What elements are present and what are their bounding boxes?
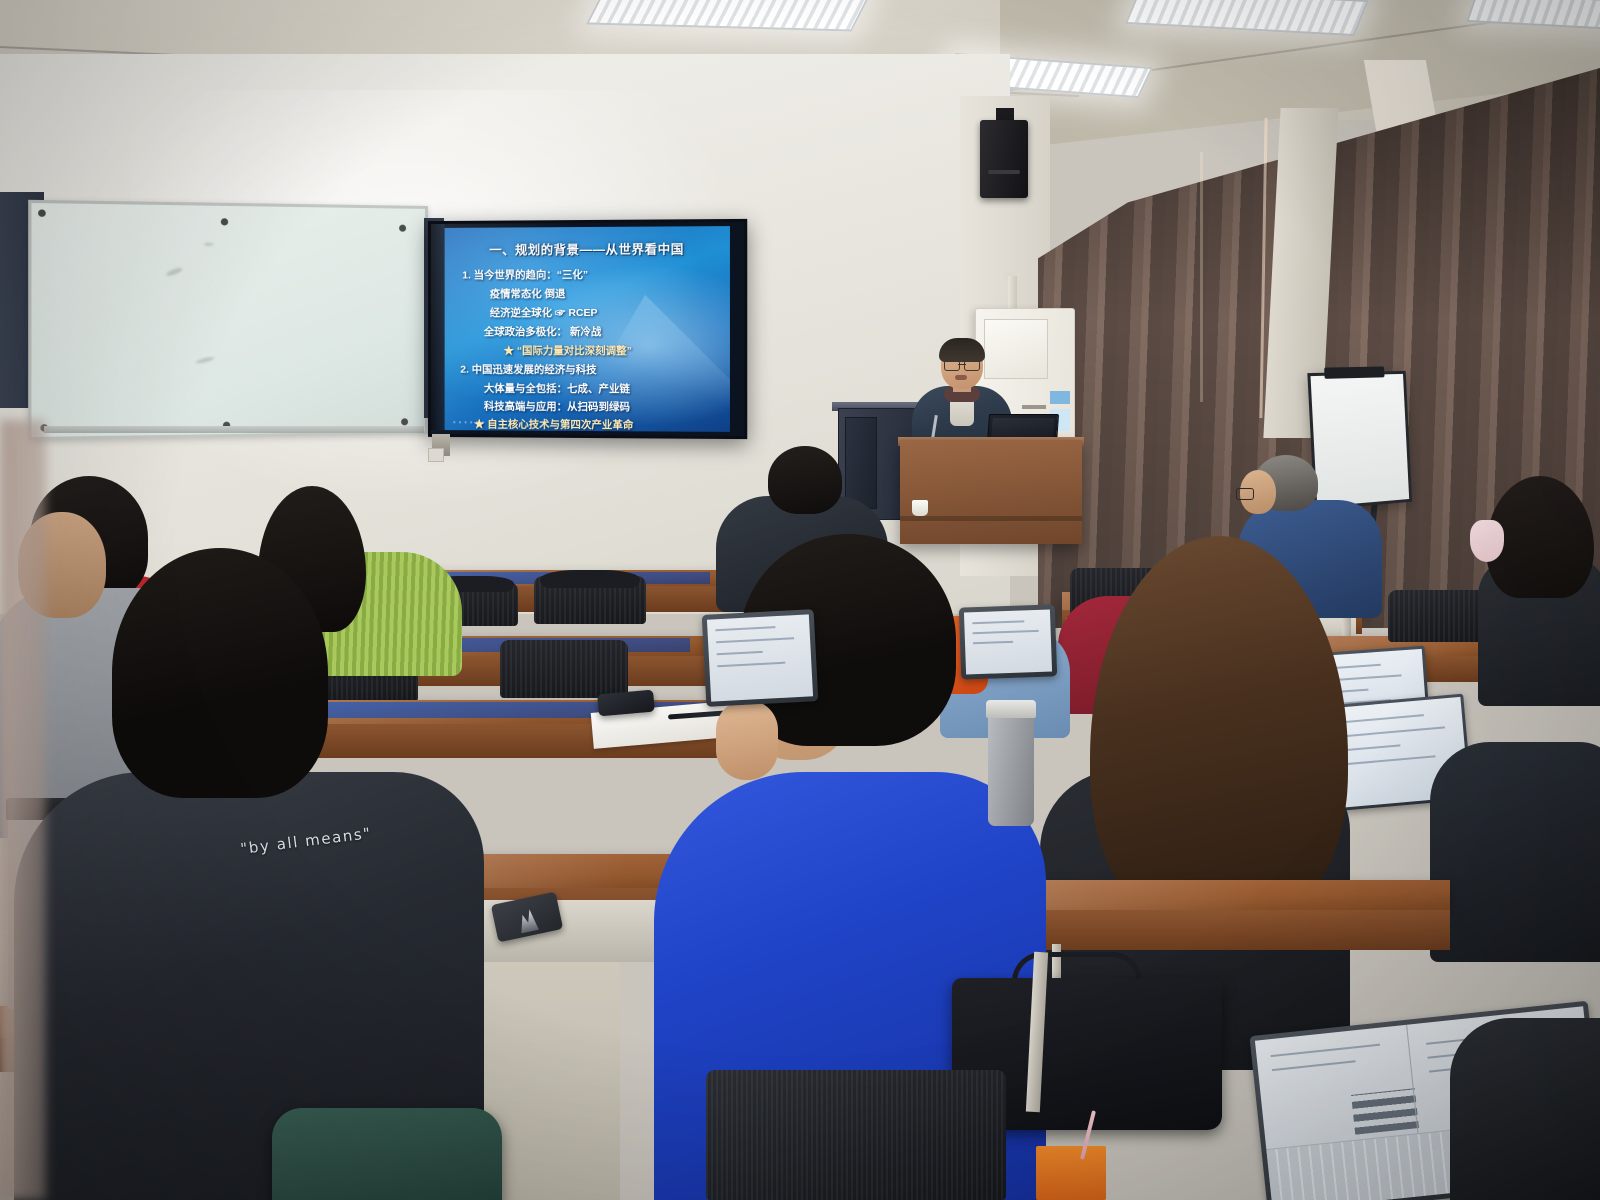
slide-line-5: ★ “国际力量对比深刻调整” <box>504 343 632 358</box>
slide-line-1: 1. 当今世界的趋向：“三化” <box>462 267 588 282</box>
screen-text-line <box>973 641 1013 644</box>
tablet-screen <box>707 614 813 701</box>
desk-gloss <box>1030 880 1450 912</box>
whiteboard <box>28 200 428 440</box>
person-hair <box>768 446 842 514</box>
slide-line-6: 2. 中国迅速发展的经济与科技 <box>460 362 596 377</box>
chair[interactable] <box>500 640 628 698</box>
backpack[interactable] <box>272 1108 502 1200</box>
ac-pipe <box>1008 276 1017 310</box>
ac-brand-logo <box>1022 405 1046 409</box>
curtain-fold-highlight <box>1200 152 1203 402</box>
glasses-left-lens <box>944 360 960 371</box>
tablet[interactable] <box>959 604 1057 679</box>
tablet-screen <box>964 610 1052 675</box>
whiteboard-tray <box>44 426 424 433</box>
speaker-icon <box>980 120 1028 198</box>
glasses-right-lens <box>964 360 980 371</box>
whiteboard-smudge <box>195 356 214 365</box>
slide-text-block: 一、规划的背景——从世界看中国 1. 当今世界的趋向：“三化” 疫情常态化 倒退… <box>445 226 730 432</box>
chair-backrest <box>540 570 640 588</box>
screen-edge-shadow <box>431 224 445 430</box>
presenter-hair <box>939 338 985 362</box>
person-hand <box>716 700 778 780</box>
slide-line-2: 疫情常态化 倒退 <box>490 286 566 301</box>
foreground-blur-column <box>0 420 46 1200</box>
cabinet-door[interactable] <box>845 417 877 509</box>
whiteboard-screw <box>38 209 46 216</box>
podium <box>900 440 1082 544</box>
whiteboard-smudge <box>165 266 183 277</box>
screen-text-line <box>973 630 1039 634</box>
wall-outlet <box>428 448 444 462</box>
ac-badge-blue <box>1050 391 1070 404</box>
water-bottle[interactable] <box>988 714 1034 826</box>
whiteboard-screw <box>221 218 228 225</box>
tablet-front[interactable] <box>702 609 819 707</box>
slide-title: 一、规划的背景——从世界看中国 <box>445 238 730 258</box>
desk-right-front <box>1030 880 1450 912</box>
slide-line-3: 经济逆全球化 ☞ RCEP <box>490 305 598 320</box>
screen-text-line <box>1271 1044 1381 1057</box>
screen-text-line <box>1272 1060 1356 1071</box>
presenter-mouth <box>955 375 967 380</box>
podium-edge <box>900 516 1082 521</box>
bottle-cap <box>986 700 1036 718</box>
screen-text-line <box>717 662 785 668</box>
flipchart-clip <box>1324 366 1384 378</box>
flipchart-board <box>1307 371 1412 510</box>
whiteboard-screw <box>399 225 406 232</box>
person-body <box>1430 742 1600 962</box>
slide-line-9: ★ 自主核心技术与第四次产业革命 <box>474 416 633 432</box>
presentation-slide: 一、规划的背景——从世界看中国 1. 当今世界的趋向：“三化” 疫情常态化 倒退… <box>445 226 730 432</box>
chair-mesh <box>706 1070 1006 1200</box>
person-hair <box>112 548 328 798</box>
classroom-photo: 一、规划的背景——从世界看中国 1. 当今世界的趋向：“三化” 疫情常态化 倒退… <box>0 0 1600 1200</box>
slide-line-4: 全球政治多极化： 新冷战 <box>484 324 601 339</box>
person-body <box>1450 1018 1600 1200</box>
slide-line-8: 科技高端与应用：从扫码到绿码 <box>484 399 630 415</box>
ac-top-panel <box>984 319 1048 379</box>
screen-text-line <box>717 651 763 655</box>
eyeglasses-icon <box>944 360 980 369</box>
screen-chinese-text <box>1351 1088 1419 1134</box>
screen-text-line <box>972 620 1024 624</box>
face-mask <box>1470 520 1504 562</box>
chair-front[interactable] <box>706 1070 1006 1200</box>
slide-line-7: 大体量与全包括：七成、产业链 <box>484 381 630 397</box>
phone-reflection <box>517 908 539 933</box>
eyeglasses-icon <box>1236 488 1254 500</box>
screen-text-line <box>715 626 775 631</box>
desk-front-panel <box>1030 910 1450 950</box>
speaker-grill <box>988 170 1020 174</box>
projection-screen: 一、规划的背景——从世界看中国 1. 当今世界的趋向：“三化” 疫情常态化 倒退… <box>428 219 747 439</box>
chair-mesh <box>500 640 628 698</box>
whiteboard-screw <box>401 418 408 425</box>
whiteboard-smudge <box>204 243 213 246</box>
paper-cup <box>912 500 928 516</box>
slide-footer-dots: ∘∘∘∘∘∘ <box>452 419 486 426</box>
screen-text-line <box>716 637 794 643</box>
juice-carton[interactable] <box>1036 1146 1106 1200</box>
